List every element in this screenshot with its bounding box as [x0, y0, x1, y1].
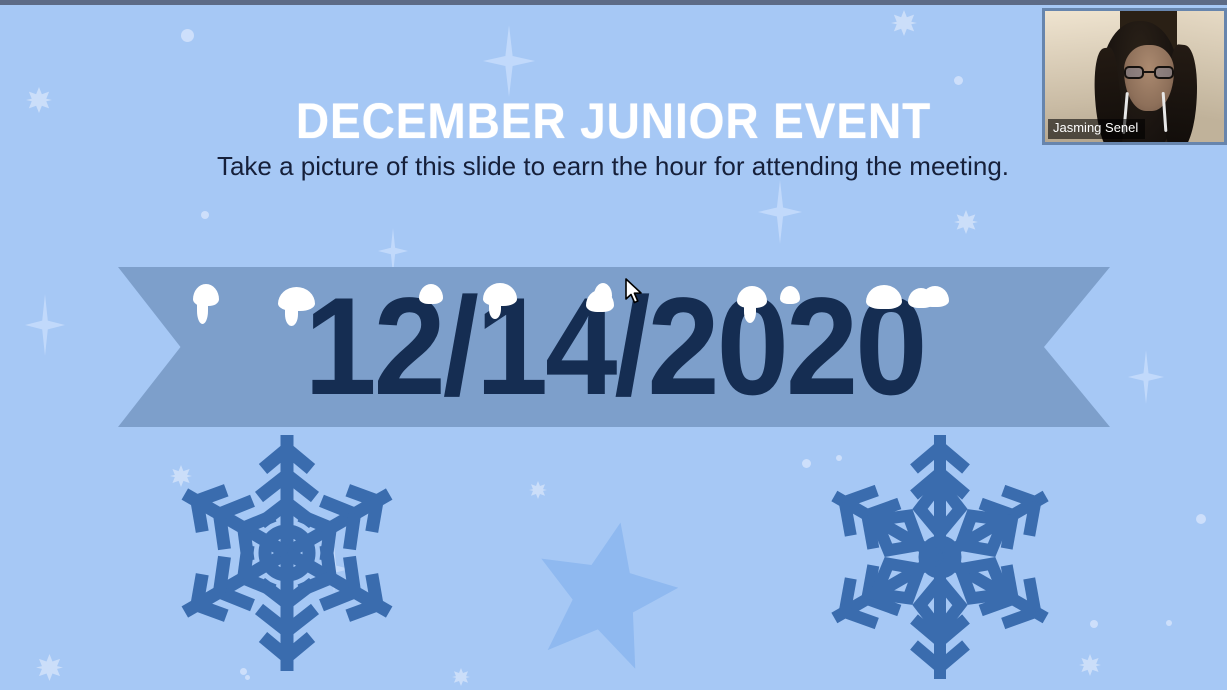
snow-drip [197, 298, 208, 324]
snow-cap [419, 284, 443, 304]
glasses-lens-right [1154, 66, 1174, 79]
snow-dot [1090, 620, 1098, 628]
snowflake-branching-icon [147, 428, 427, 678]
snow-cap [780, 286, 800, 304]
snow-drip [489, 299, 501, 319]
snow-drip [744, 301, 756, 323]
snow-dot [1196, 514, 1206, 524]
page-title: DECEMBER JUNIOR EVENT [49, 96, 1178, 146]
glasses-lens-left [1124, 66, 1144, 79]
snow-drip [285, 303, 298, 326]
screen: DECEMBER JUNIOR EVENT Take a picture of … [0, 0, 1227, 690]
participant-video-tile[interactable]: Jasming Senel [1042, 8, 1227, 145]
snowflake-diamond-icon [800, 432, 1080, 682]
participant-name-label: Jasming Senel [1048, 119, 1145, 139]
snow-cap [594, 283, 612, 301]
event-date: 12/14/2020 [304, 278, 924, 417]
snow-dot [201, 211, 209, 219]
snow-dot [954, 76, 963, 85]
snow-dot [1166, 620, 1172, 626]
snow-dot [181, 29, 194, 42]
glasses-icon [1124, 66, 1174, 79]
glasses-bridge [1144, 71, 1154, 73]
date-text-wrap: 12/14/2020 [118, 267, 1110, 427]
slide-subtitle: Take a picture of this slide to earn the… [213, 152, 1013, 181]
window-top-bar [0, 0, 1227, 5]
